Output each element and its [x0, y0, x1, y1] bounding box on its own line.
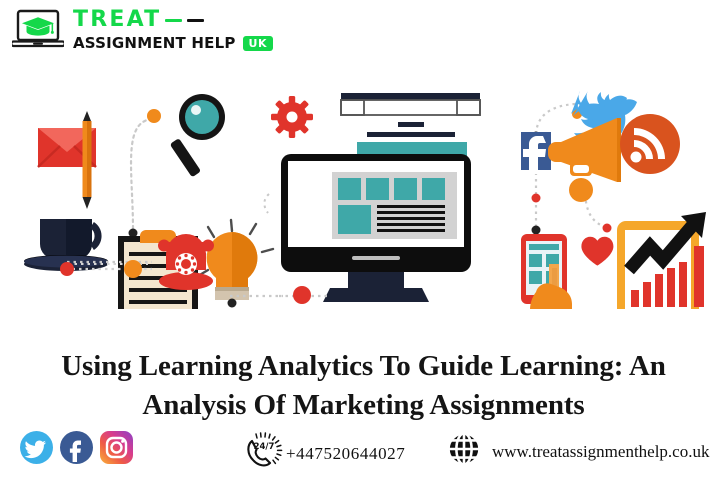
page-title: Using Learning Analytics To Guide Learni…	[24, 347, 703, 424]
brand-logo[interactable]: TREAT ASSIGNMENT HELP UK	[12, 8, 273, 52]
smartphone-hand-icon	[521, 234, 572, 309]
instagram-icon[interactable]	[100, 431, 133, 464]
social-links	[20, 431, 133, 464]
heart-icon	[581, 237, 613, 266]
facebook-f-icon	[521, 132, 551, 174]
pencil-icon	[83, 111, 92, 209]
brand-name-primary: TREAT	[73, 9, 161, 31]
phone-24-7-icon: 24/7	[244, 432, 284, 475]
brand-dash-green	[165, 19, 182, 22]
tablet-growth-chart-icon	[617, 212, 706, 309]
megaphone-icon	[548, 118, 621, 202]
brand-dash-black	[187, 19, 204, 22]
right-cluster-icons	[521, 91, 706, 309]
page-title-line-2: Analysis Of Marketing Assignments	[142, 389, 584, 421]
globe-icon	[447, 432, 481, 471]
footer-contact-bar: 24/7 +447520644027 www.treatassignmenthe…	[0, 428, 727, 483]
phone-contact[interactable]: 24/7 +447520644027	[244, 432, 405, 475]
rotary-telephone-icon	[158, 234, 214, 290]
brand-wordmark: TREAT ASSIGNMENT HELP UK	[73, 9, 273, 51]
desktop-monitor-icon	[281, 154, 471, 302]
laptop-graduation-cap-icon	[12, 8, 64, 52]
brand-name-secondary: ASSIGNMENT HELP	[73, 36, 236, 51]
phone-number[interactable]: +447520644027	[286, 444, 405, 464]
twitter-icon[interactable]	[20, 431, 53, 464]
rss-icon	[620, 114, 680, 174]
facebook-icon[interactable]	[60, 431, 93, 464]
browser-bar-icon	[341, 93, 480, 156]
center-cluster-icons	[230, 93, 480, 304]
magnifier-icon	[170, 94, 225, 177]
website-url[interactable]: www.treatassignmenthelp.co.uk	[492, 442, 709, 462]
gear-icon	[271, 96, 313, 138]
hero-illustration	[0, 84, 727, 309]
region-badge-uk: UK	[243, 36, 273, 51]
phone-badge-text: 24/7	[254, 442, 275, 452]
page-title-line-1: Using Learning Analytics To Guide Learni…	[61, 350, 666, 382]
left-cluster-icons	[24, 94, 273, 309]
website-contact[interactable]: www.treatassignmenthelp.co.uk	[447, 432, 709, 471]
